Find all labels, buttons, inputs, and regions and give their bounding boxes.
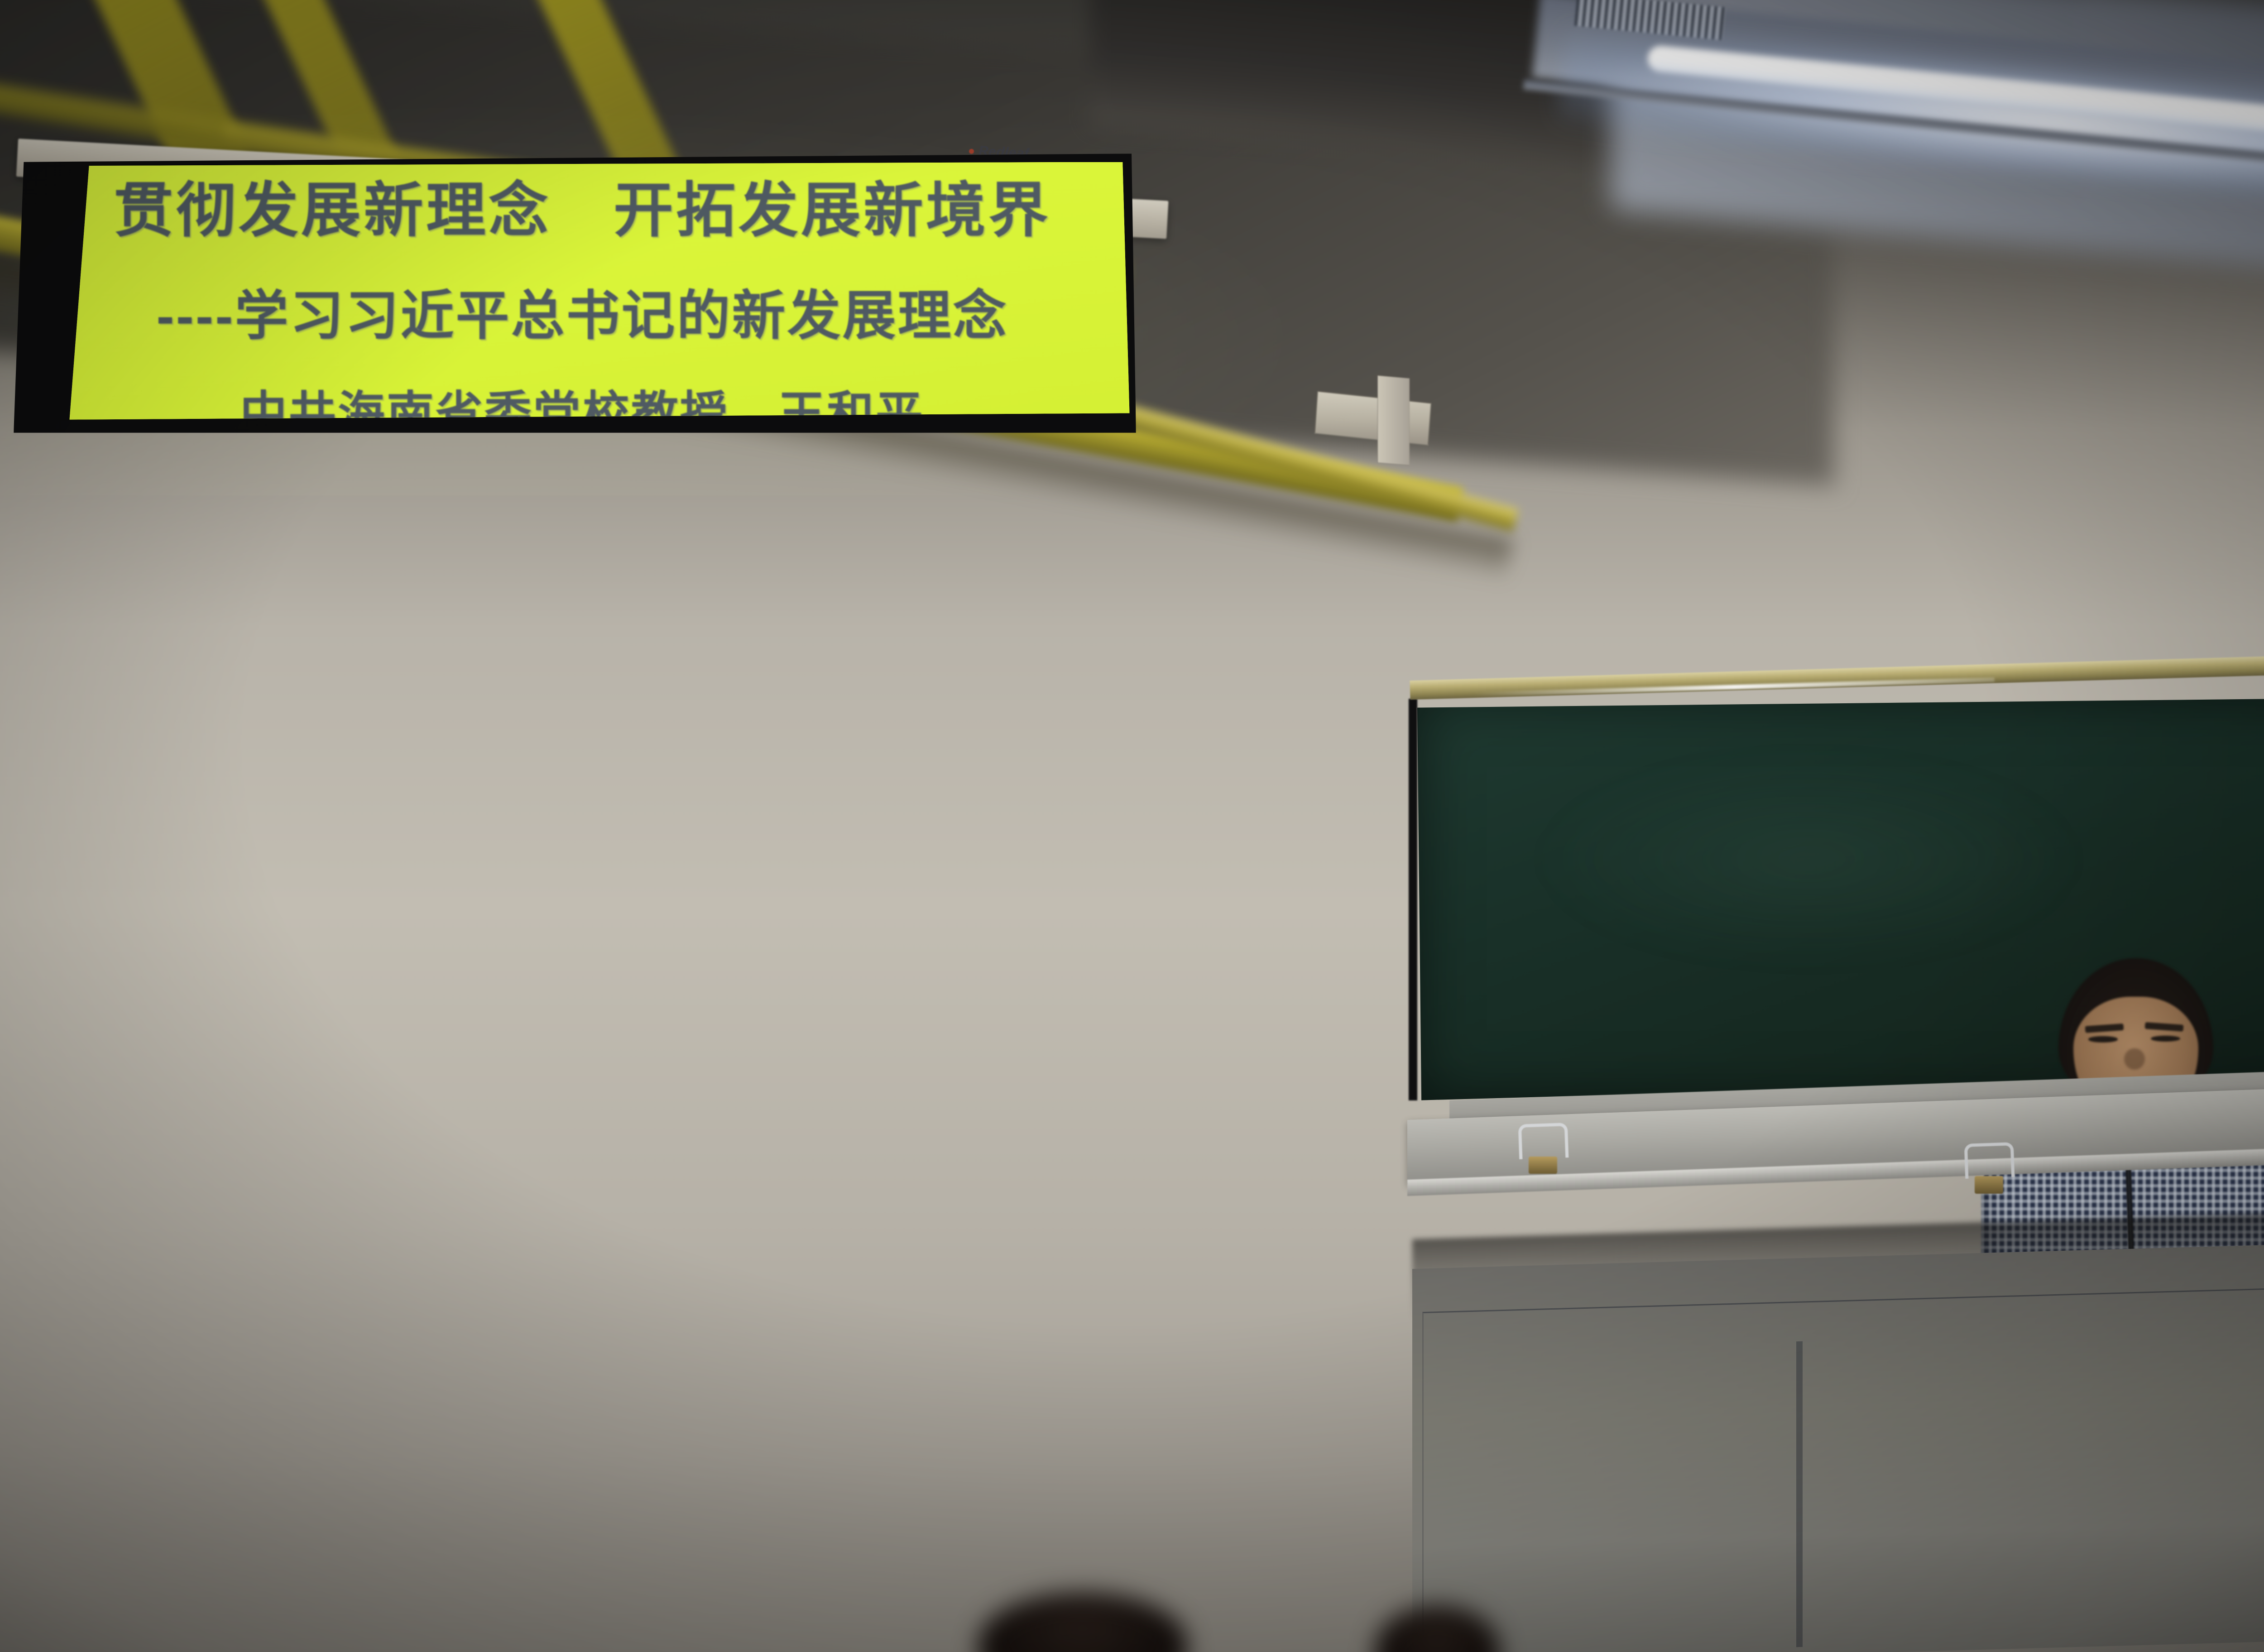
slide-subtitle-line: ----学习习近平总书记的新发展理念: [59, 272, 1106, 350]
lectern-handle-plate-right: [1975, 1176, 2003, 1193]
lectern-handle-left[interactable]: [1518, 1123, 1569, 1159]
slide-title-line: 贯彻发展新理念 开拓发展新境界: [59, 162, 1106, 249]
lectern-handle-plate-left: [1529, 1157, 1557, 1174]
presentation-slide: 贯彻发展新理念 开拓发展新境界 ----学习习近平总书记的新发展理念 中共海南省…: [7, 162, 1157, 420]
speaker-nose: [2124, 1048, 2145, 1070]
speaker-eye-left: [2088, 1036, 2118, 1042]
lecture-hall-scene: Redleaf 贯彻发展新理念 开拓发展新境界 ----学习习近平总书记的新发展…: [0, 0, 2264, 1652]
brand-dot-icon: [969, 149, 974, 154]
beam-wall-bracket-side: [1377, 375, 1410, 466]
blackboard-left-edge: [1409, 699, 1417, 1100]
lectern-panel-divider: [1796, 1341, 1803, 1647]
projection-screen[interactable]: 贯彻发展新理念 开拓发展新境界 ----学习习近平总书记的新发展理念 中共海南省…: [7, 162, 1157, 420]
lectern-panel-outline: [1422, 1282, 2264, 1642]
blackboard-sheen: [1536, 760, 2082, 958]
lectern-handle-right[interactable]: [1964, 1143, 2015, 1179]
slide-body: 贯彻发展新理念 开拓发展新境界 ----学习习近平总书记的新发展理念 中共海南省…: [7, 162, 1157, 420]
speaker-eye-right: [2151, 1036, 2181, 1042]
slide-author-line: 中共海南省委党校教授 王和平: [59, 375, 1106, 420]
